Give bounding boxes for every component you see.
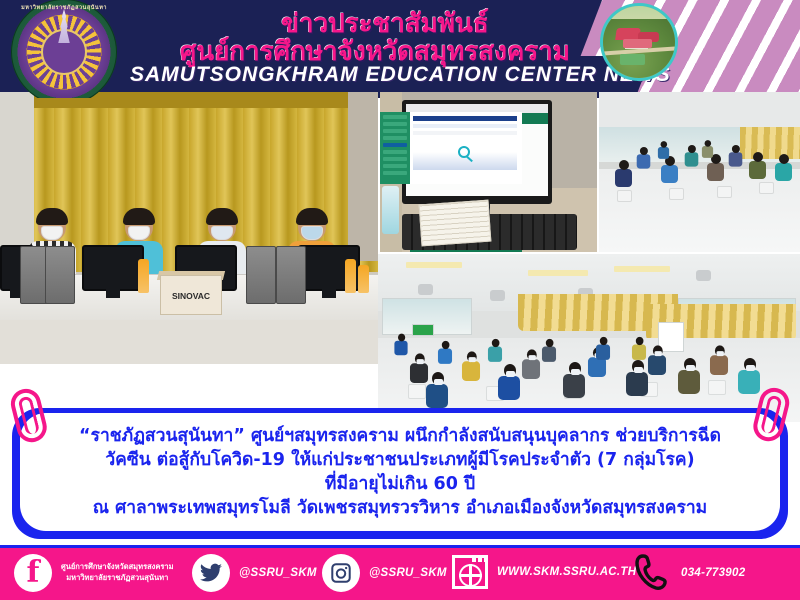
header-title-english: SAMUTSONGKHRAM EDUCATION CENTER NEWS (130, 63, 650, 87)
chair (617, 190, 632, 202)
ceiling-fan (418, 284, 433, 295)
seated-person (426, 372, 448, 410)
twitter-handle: @SSRU_SKM (239, 567, 317, 579)
chair (408, 384, 426, 399)
app-sidebar (380, 112, 410, 184)
footer-twitter[interactable]: @SSRU_SKM (192, 554, 317, 592)
vaccine-box-label: SINOVAC (160, 291, 222, 301)
ceiling-light (614, 266, 670, 272)
exit-sign (412, 324, 434, 336)
twitter-icon[interactable] (192, 554, 230, 592)
ceiling-light (406, 262, 462, 268)
water-bottle (345, 259, 356, 293)
seated-person (738, 358, 760, 396)
footer-divider (0, 545, 800, 548)
phone-number: 034-773902 (681, 567, 745, 579)
seated-person (710, 345, 728, 376)
ceiling-fan (490, 290, 505, 301)
campus-lawn (620, 54, 644, 66)
website-url: WWW.SKM.SSRU.AC.TH (497, 566, 636, 578)
photo-collage: SINOVAC AC (0, 92, 800, 422)
app-filter-bar (413, 124, 517, 128)
desk-monitor (82, 245, 144, 291)
seated-person (522, 349, 540, 380)
seated-person (563, 362, 585, 400)
seated-person (438, 341, 452, 365)
seated-person (488, 339, 502, 363)
caption-line-3: ที่มีอายุไม่เกิน 60 ปี (325, 472, 475, 496)
phone-icon (632, 553, 672, 593)
news-poster: มหาวิทยาลัยราชภัฏสวนสุนันทา ข่าวประชาสัม… (0, 0, 800, 600)
seated-person (596, 337, 610, 361)
seated-person (702, 140, 713, 160)
caption-line-4: ณ ศาลาพระเทพสมุทรโมลี วัดเพชรสมุทรวรวิหา… (93, 496, 707, 520)
seated-person (637, 147, 651, 171)
instagram-handle: @SSRU_SKM (369, 567, 447, 579)
sanitizer-bottle (382, 186, 399, 234)
seated-person (648, 345, 666, 376)
seated-person (498, 364, 520, 402)
footer-facebook[interactable]: f ศูนย์การศึกษาจังหวัดสมุทรสงคราม มหาวิท… (14, 554, 174, 592)
caption-line-1: “ราชภัฏสวนสุนันทา” ศูนย์ฯสมุทรสงคราม ผนึ… (79, 424, 721, 448)
facebook-icon[interactable]: f (14, 554, 52, 592)
footer-website[interactable]: WWW.SKM.SSRU.AC.TH (452, 555, 636, 589)
seated-person (678, 358, 700, 396)
caption-panel: “ราชภัฏสวนสุนันทา” ศูนย์ฯสมุทรสงคราม ผนึ… (20, 413, 780, 531)
seated-person (462, 351, 480, 382)
desktop-tower (246, 246, 276, 304)
ssru-university-logo: มหาวิทยาลัยราชภัฏสวนสุนันทา (5, 0, 123, 98)
seated-person (632, 337, 646, 361)
app-title-bar (413, 116, 517, 121)
logo-text-top: มหาวิทยาลัยราชภัฏสวนสุนันทา (5, 4, 123, 12)
vaccination-registration-desk-photo: SINOVAC (0, 92, 378, 364)
facebook-page-name: ศูนย์การศึกษาจังหวัดสมุทรสงคราม มหาวิทยา… (61, 562, 174, 584)
campus-aerial-photo (600, 3, 678, 81)
poster-footer: f ศูนย์การศึกษาจังหวัดสมุทรสงคราม มหาวิท… (0, 545, 800, 600)
footer-instagram[interactable]: @SSRU_SKM (322, 554, 447, 592)
right-wall (348, 92, 378, 261)
standing-staff (394, 334, 407, 357)
chair (759, 182, 774, 194)
seated-person (542, 339, 556, 363)
water-bottle (358, 265, 369, 293)
poster-header: มหาวิทยาลัยราชภัฏสวนสุนันทา ข่าวประชาสัม… (0, 0, 800, 98)
search-icon (458, 146, 470, 158)
caption-line-2: วัคซีน ต่อสู้กับโควิด-19 ให้แก่ประชาชนปร… (105, 448, 694, 472)
globe-icon[interactable] (452, 555, 488, 589)
ceiling-fan (696, 270, 711, 281)
seated-person (775, 154, 792, 184)
ceiling-light (528, 270, 588, 276)
seated-person (685, 145, 699, 169)
seated-person (749, 152, 766, 182)
seated-person (729, 145, 743, 169)
seated-waiting-crowd-photo (599, 92, 800, 252)
campus-roof-3 (623, 39, 652, 48)
desktop-tower (276, 246, 306, 304)
seated-person (626, 360, 648, 398)
water-bottle (138, 259, 149, 293)
registration-form-paper (419, 200, 492, 247)
seated-person (615, 160, 632, 190)
seated-person (410, 353, 428, 384)
vaccination-hall-crowd-photo (378, 254, 800, 422)
instagram-icon[interactable] (322, 554, 360, 592)
chair (717, 186, 732, 198)
chair (669, 188, 684, 200)
computer-monitor-registration-system-photo: AC (380, 92, 597, 252)
footer-phone[interactable]: 034-773902 (632, 553, 745, 593)
chair (708, 380, 726, 395)
app-row (413, 131, 517, 135)
seated-person (658, 141, 669, 161)
desktop-tower (45, 246, 75, 304)
